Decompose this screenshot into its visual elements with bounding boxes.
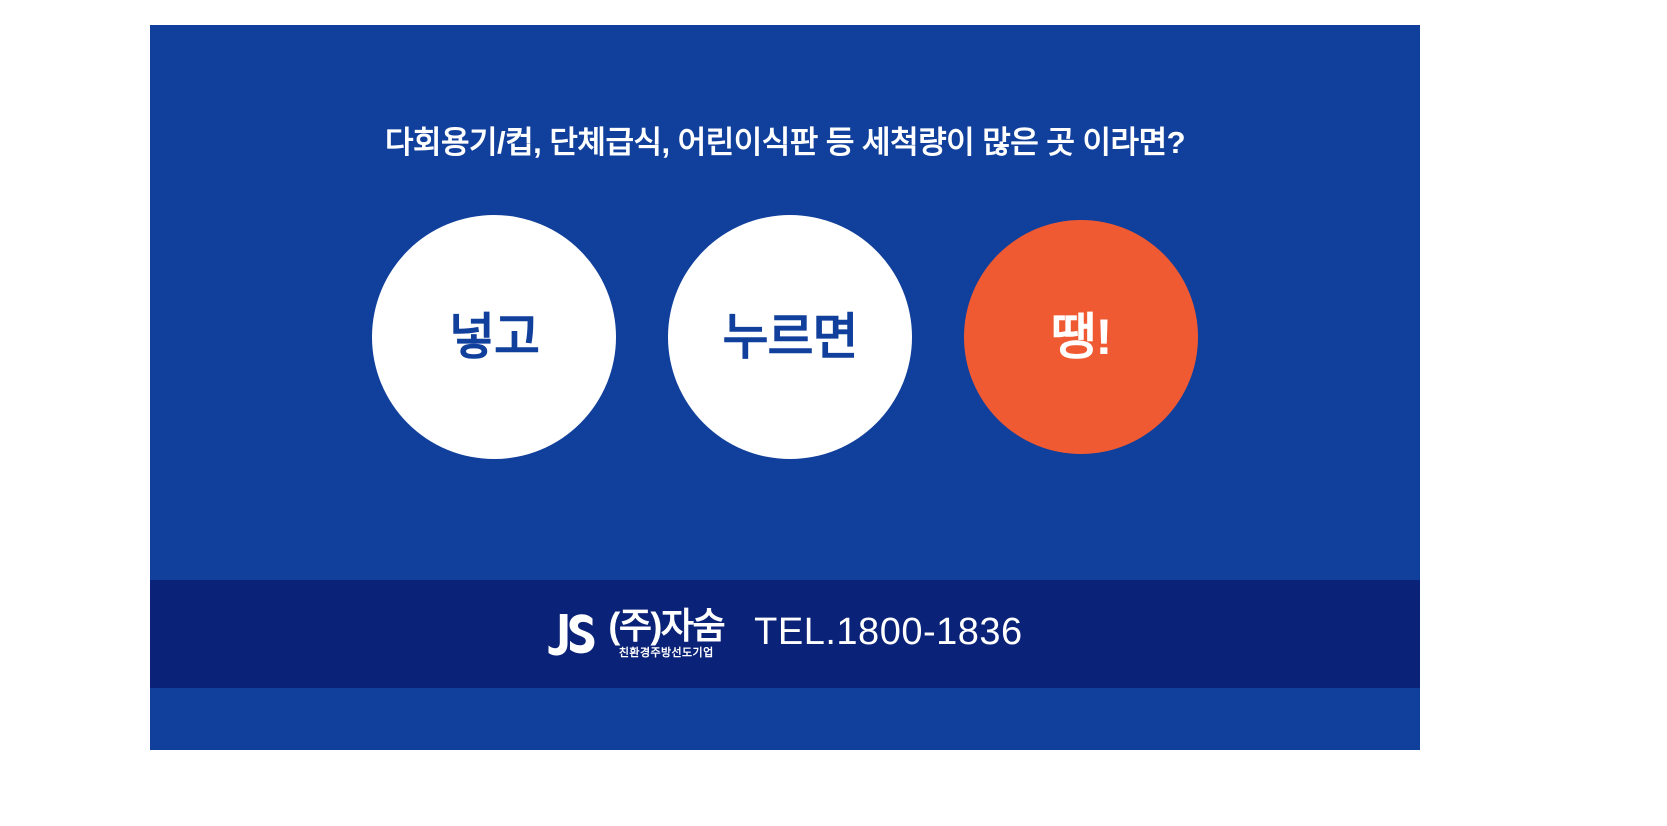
steps-row: 넣고 누르면 땡! <box>150 197 1420 477</box>
footer-band: (주)자숨 친환경주방선도기업 TEL.1800-1836 <box>150 580 1420 688</box>
js-monogram-icon <box>547 610 601 660</box>
step-label-2: 누르면 <box>723 312 858 362</box>
step-label-1: 넣고 <box>449 312 539 362</box>
bottom-strip <box>150 688 1420 750</box>
promo-panel: 다회용기/컵, 단체급식, 어린이식판 등 세척량이 많은 곳 이라면? 넣고 … <box>150 25 1420 750</box>
step-circle-2: 누르면 <box>668 215 912 459</box>
footer-content: (주)자숨 친환경주방선도기업 TEL.1800-1836 <box>547 608 1022 660</box>
logo-text-block: (주)자숨 친환경주방선도기업 <box>608 608 724 660</box>
company-logo: (주)자숨 친환경주방선도기업 <box>547 608 724 660</box>
company-tagline: 친환경주방선도기업 <box>619 647 714 660</box>
step-label-3: 땡! <box>1051 312 1112 362</box>
company-name: (주)자숨 <box>608 608 724 645</box>
step-circle-3: 땡! <box>964 220 1198 454</box>
headline-text: 다회용기/컵, 단체급식, 어린이식판 등 세척량이 많은 곳 이라면? <box>150 123 1420 163</box>
step-circle-1: 넣고 <box>372 215 616 459</box>
telephone-number: TEL.1800-1836 <box>754 613 1022 655</box>
banner-root: 다회용기/컵, 단체급식, 어린이식판 등 세척량이 많은 곳 이라면? 넣고 … <box>0 0 1667 826</box>
